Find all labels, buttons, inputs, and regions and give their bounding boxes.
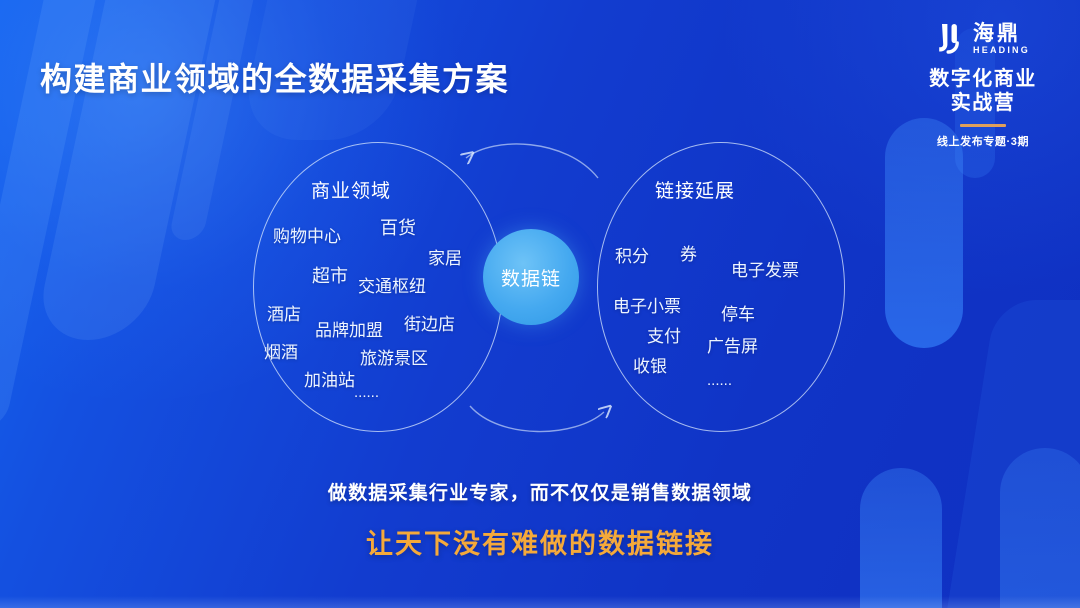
left-tag: 交通枢纽 bbox=[358, 272, 426, 297]
arrow-top-right-to-left bbox=[466, 144, 598, 178]
right-tag: 停车 bbox=[721, 300, 755, 325]
right-tag: 券 bbox=[680, 240, 697, 265]
campaign-line-1: 数字化商业 bbox=[908, 67, 1058, 91]
slide-canvas: 构建商业领域的全数据采集方案 海鼎 HEADING 数字化商业 实战营 线上发布… bbox=[0, 0, 1080, 608]
campaign-line-2: 实战营 bbox=[908, 91, 1058, 115]
core-node-data-chain[interactable]: 数据链 bbox=[483, 229, 579, 325]
right-tag: 电子发票 bbox=[731, 256, 799, 281]
left-tag: 烟酒 bbox=[264, 338, 298, 363]
logo-divider-rule bbox=[960, 124, 1006, 127]
left-tag: 旅游景区 bbox=[360, 344, 428, 369]
venn-diagram: 商业领域 链接延展 购物中心百货家居超市交通枢纽酒店品牌加盟街边店烟酒旅游景区加… bbox=[0, 132, 1080, 442]
bottom-edge-highlight bbox=[0, 596, 1080, 608]
caption-primary: 做数据采集行业专家，而不仅仅是销售数据领域 bbox=[0, 478, 1080, 505]
left-tag: ...... bbox=[354, 384, 379, 401]
venn-title-right: 链接延展 bbox=[655, 176, 735, 203]
venn-title-left: 商业领域 bbox=[311, 176, 391, 203]
right-tag: ...... bbox=[707, 372, 732, 389]
arrow-bottom-left-to-right bbox=[470, 406, 604, 432]
brand-name-cn: 海鼎 bbox=[973, 23, 1030, 44]
right-tag: 积分 bbox=[615, 242, 649, 267]
left-tag: 加油站 bbox=[304, 366, 355, 391]
right-tag: 广告屏 bbox=[707, 332, 758, 357]
left-tag: 酒店 bbox=[267, 300, 301, 325]
left-tag: 街边店 bbox=[404, 310, 455, 335]
left-tag: 购物中心 bbox=[273, 222, 341, 247]
left-tag: 超市 bbox=[312, 262, 348, 288]
brand-name-en: HEADING bbox=[973, 46, 1030, 55]
brand-logo-row: 海鼎 HEADING bbox=[908, 22, 1058, 56]
left-tag: 家居 bbox=[428, 244, 462, 269]
page-title: 构建商业领域的全数据采集方案 bbox=[40, 54, 509, 100]
right-tag: 电子小票 bbox=[613, 292, 681, 317]
heading-logo-mark bbox=[936, 22, 966, 56]
left-tag: 品牌加盟 bbox=[315, 316, 383, 341]
caption-slogan: 让天下没有难做的数据链接 bbox=[0, 522, 1080, 561]
right-tag: 支付 bbox=[647, 322, 681, 347]
right-tag: 收银 bbox=[633, 352, 667, 377]
core-node-label: 数据链 bbox=[501, 264, 561, 291]
left-tag: 百货 bbox=[380, 214, 416, 240]
brand-logo-block: 海鼎 HEADING 数字化商业 实战营 线上发布专题·3期 bbox=[908, 22, 1058, 149]
brand-wordmark: 海鼎 HEADING bbox=[973, 23, 1030, 55]
